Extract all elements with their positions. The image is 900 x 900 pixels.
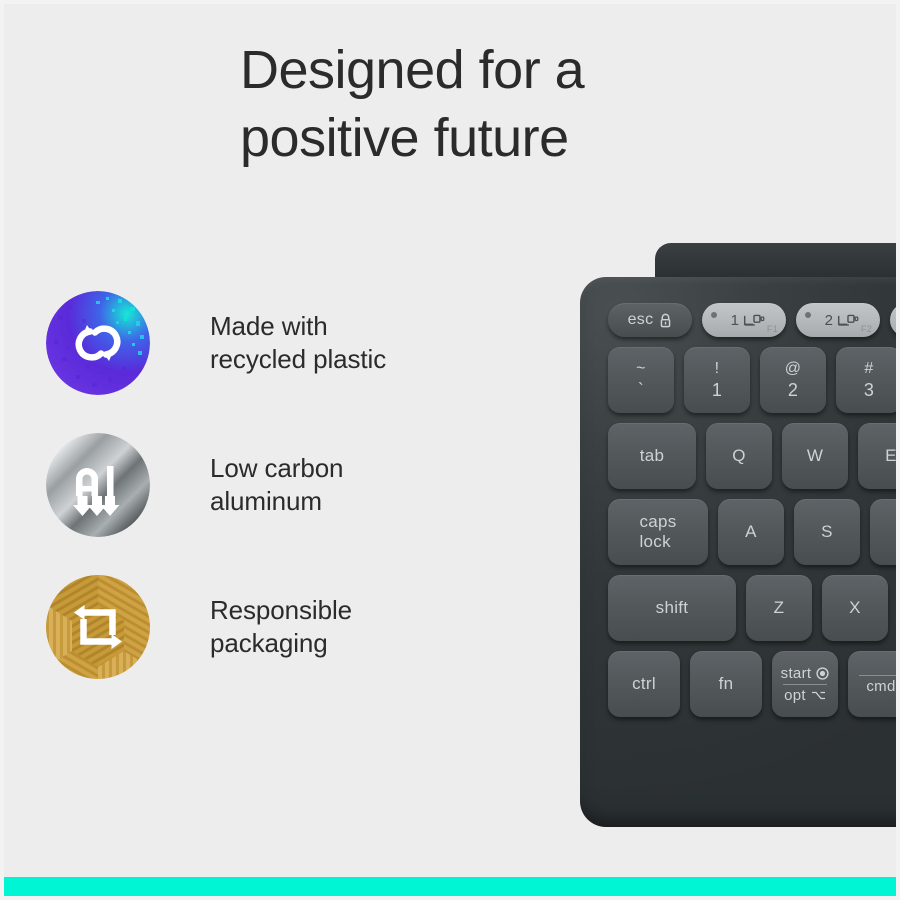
key-start-opt[interactable]: start opt [772,651,838,717]
key-cmd[interactable]: cmd [848,651,900,717]
recycled-plastic-badge [46,291,150,395]
feature-item-low-carbon-aluminum: Low carbon aluminum [46,427,516,543]
key-x[interactable]: X [822,575,888,641]
feature-label-low-carbon-aluminum: Low carbon aluminum [210,452,343,519]
key-1-upper: ! [715,361,720,377]
key-f2-easy-switch[interactable]: 2 F2 [796,303,880,337]
packaging-repeat-loop-icon [46,575,150,679]
keyboard-key-rows: esc 1 [608,303,900,727]
keyboard-row-function: esc 1 [608,303,900,337]
key-start-label: start [781,665,812,682]
key-a[interactable]: A [718,499,784,565]
key-esc-label: esc [628,311,654,329]
key-3-lower: 3 [864,381,874,399]
key-s[interactable]: S [794,499,860,565]
key-fn[interactable]: fn [690,651,762,717]
keyboard-product-image: esc 1 [560,225,900,845]
lock-icon [659,313,672,328]
keyboard-row-number: ~ ` ! 1 @ 2 # 3 [608,347,900,413]
key-tilde[interactable]: ~ ` [608,347,674,413]
key-2-lower: 2 [788,381,798,399]
bottom-accent-bar [0,877,900,900]
key-caps-lock-label: caps lock [639,512,676,551]
feature-item-responsible-packaging: Responsible packaging [46,569,516,685]
key-esc[interactable]: esc [608,303,692,337]
key-cmd-separator [859,675,900,676]
key-cmd-bottom: cmd [866,676,895,697]
led-indicator-f1 [711,312,717,318]
device-switch-icon [743,314,765,327]
feature-list: Made with recycled plastic [46,285,516,711]
key-q[interactable]: Q [706,423,772,489]
keyboard-row-modifier: ctrl fn start opt [608,651,900,717]
key-e[interactable]: E [858,423,900,489]
recycled-plastic-loop-icon [46,291,150,395]
keyboard-row-home: caps lock A S D [608,499,900,565]
key-f2-fn-label: F2 [861,324,872,334]
key-1-lower: 1 [712,381,722,399]
aluminum-badge [46,433,150,537]
keyboard-row-shift: shift Z X [608,575,900,641]
device-switch-icon [837,314,859,327]
key-tilde-upper: ~ [636,361,646,377]
key-f1-fn-label: F1 [767,324,778,334]
keyboard-body: esc 1 [580,277,900,827]
key-3-upper: # [864,361,873,377]
packaging-badge [46,575,150,679]
key-d[interactable]: D [870,499,900,565]
product-feature-panel: Designed for a positive future [0,0,900,900]
key-caps-lock[interactable]: caps lock [608,499,708,565]
key-f1-number: 1 [731,312,740,329]
key-2[interactable]: @ 2 [760,347,826,413]
key-tilde-lower: ` [638,381,644,399]
key-z[interactable]: Z [746,575,812,641]
key-1[interactable]: ! 1 [684,347,750,413]
key-start-top: start [781,663,830,684]
key-f2-number: 2 [825,312,834,329]
keyboard-row-tab: tab Q W E [608,423,900,489]
option-alt-icon [811,690,826,701]
aluminum-down-arrows-icon [46,433,150,537]
page-title: Designed for a positive future [240,36,800,172]
key-shift[interactable]: shift [608,575,736,641]
key-opt-bottom: opt [784,685,826,706]
key-2-upper: @ [785,361,802,377]
feature-item-recycled-plastic: Made with recycled plastic [46,285,516,401]
key-f1-easy-switch[interactable]: 1 F1 [702,303,786,337]
windows-start-icon [816,667,829,680]
key-f2-content: 2 [825,312,860,329]
key-cmd-label: cmd [866,678,895,695]
key-ctrl[interactable]: ctrl [608,651,680,717]
feature-label-recycled-plastic: Made with recycled plastic [210,310,386,377]
key-opt-label: opt [784,687,806,704]
key-3[interactable]: # 3 [836,347,900,413]
key-w[interactable]: W [782,423,848,489]
led-indicator-f2 [805,312,811,318]
key-f3-easy-switch[interactable]: 3 [890,303,900,337]
feature-label-responsible-packaging: Responsible packaging [210,594,352,661]
key-f1-content: 1 [731,312,766,329]
key-dual-separator [783,684,827,685]
key-tab[interactable]: tab [608,423,696,489]
